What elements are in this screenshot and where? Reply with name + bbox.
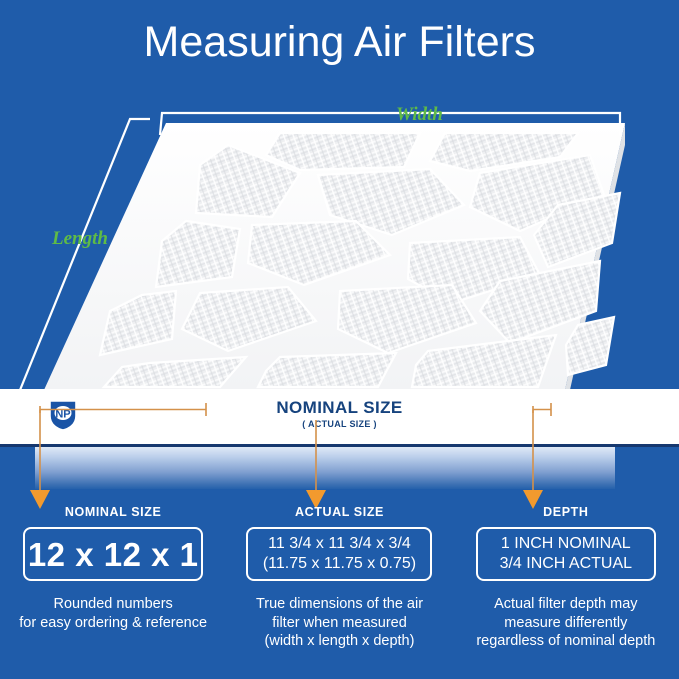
- column-title: ACTUAL SIZE: [295, 505, 384, 519]
- column-caption: Actual filter depth may measure differen…: [476, 595, 655, 651]
- caption-line: filter when measured: [256, 614, 423, 633]
- air-filter-illustration: [0, 95, 679, 425]
- column-title: DEPTH: [543, 505, 588, 519]
- value-box: 1 INCH NOMINAL 3/4 INCH ACTUAL: [476, 527, 656, 581]
- value-box: 12 x 12 x 1: [23, 527, 203, 581]
- label-width: Width: [396, 104, 443, 126]
- caption-line: for easy ordering & reference: [19, 614, 207, 633]
- column-nominal-size: NOMINAL SIZE 12 x 12 x 1 Rounded numbers…: [0, 505, 226, 679]
- caption-line: Rounded numbers: [19, 595, 207, 614]
- infographic-canvas: Measuring Air Filters: [0, 0, 679, 679]
- column-depth: DEPTH 1 INCH NOMINAL 3/4 INCH ACTUAL Act…: [453, 505, 679, 679]
- callout-connectors: [0, 380, 679, 520]
- value-line: 11 3/4 x 11 3/4 x 3/4: [268, 534, 411, 554]
- label-length: Length: [52, 228, 108, 250]
- detail-columns: NOMINAL SIZE 12 x 12 x 1 Rounded numbers…: [0, 505, 679, 679]
- column-caption: True dimensions of the air filter when m…: [256, 595, 423, 651]
- caption-line: measure differently: [476, 614, 655, 633]
- value-box: 11 3/4 x 11 3/4 x 3/4 (11.75 x 11.75 x 0…: [246, 527, 432, 581]
- column-caption: Rounded numbers for easy ordering & refe…: [19, 595, 207, 632]
- caption-line: (width x length x depth): [256, 632, 423, 651]
- caption-line: regardless of nominal depth: [476, 632, 655, 651]
- value-line: 12 x 12 x 1: [28, 538, 199, 571]
- caption-line: Actual filter depth may: [476, 595, 655, 614]
- value-line: (11.75 x 11.75 x 0.75): [263, 554, 416, 574]
- value-line: 1 INCH NOMINAL: [501, 534, 631, 554]
- page-title: Measuring Air Filters: [0, 18, 679, 67]
- column-title: NOMINAL SIZE: [65, 505, 162, 519]
- column-actual-size: ACTUAL SIZE 11 3/4 x 11 3/4 x 3/4 (11.75…: [226, 505, 452, 679]
- value-line: 3/4 INCH ACTUAL: [500, 554, 632, 574]
- caption-line: True dimensions of the air: [256, 595, 423, 614]
